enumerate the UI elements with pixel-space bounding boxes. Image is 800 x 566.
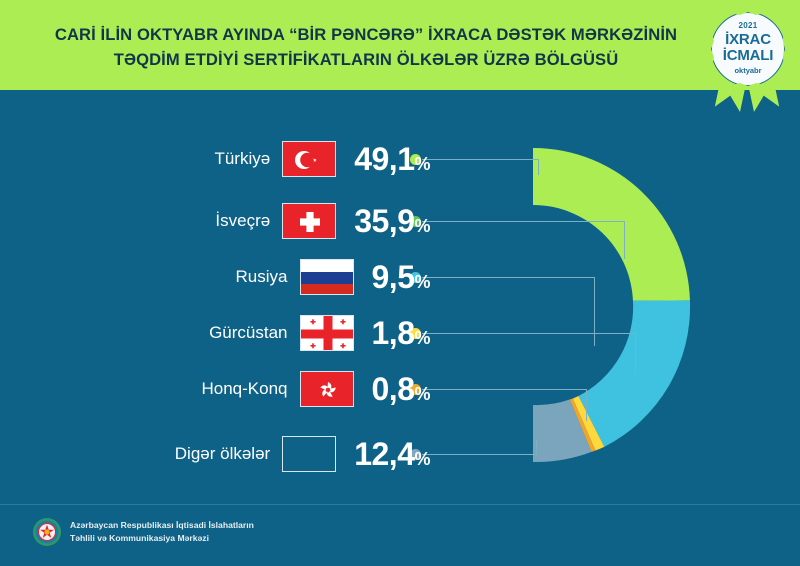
connector-drop-isvecre bbox=[624, 221, 625, 259]
footer-organization-name: Azərbaycan Respublikası İqtisadi İslahat… bbox=[70, 519, 254, 544]
connector-line-diger bbox=[422, 454, 537, 455]
flag-russia-icon bbox=[300, 259, 354, 295]
flag-hongkong-icon bbox=[300, 371, 354, 407]
semi-donut-chart bbox=[490, 128, 800, 488]
connector-line-rusiya bbox=[422, 277, 595, 278]
data-row-diger-olkeler[interactable]: Digər ölkələr 12,4% bbox=[90, 437, 430, 471]
flag-switzerland-icon bbox=[282, 203, 336, 239]
connector-line-turkiye bbox=[422, 159, 539, 160]
row-label-gurcustan: Gürcüstan bbox=[209, 323, 287, 343]
page-title: CARİ İLİN OKTYABR AYINDA “BİR PƏNCƏRƏ” İ… bbox=[36, 22, 696, 72]
row-label-rusiya: Rusiya bbox=[236, 267, 288, 287]
data-row-turkiye[interactable]: Türkiyə 49,1% bbox=[90, 142, 430, 176]
flag-turkey-icon bbox=[282, 141, 336, 177]
footer-line-2: Təhlili və Kommunikasiya Mərkəzi bbox=[70, 532, 254, 545]
row-value-gurcustan: 1,8% bbox=[372, 315, 431, 352]
connector-drop-gurcustan bbox=[635, 333, 636, 375]
row-value-isvecre: 35,9% bbox=[354, 203, 430, 240]
badge-month: oktyabr bbox=[712, 66, 784, 75]
row-value-rusiya: 9,5% bbox=[372, 259, 431, 296]
infographic-page: CARİ İLİN OKTYABR AYINDA “BİR PƏNCƏRƏ” İ… bbox=[0, 0, 800, 566]
connector-drop-rusiya bbox=[594, 277, 595, 346]
row-value-honqkonq: 0,8% bbox=[372, 371, 431, 408]
row-label-turkiye: Türkiyə bbox=[214, 149, 270, 169]
footer-line-1: Azərbaycan Respublikası İqtisadi İslahat… bbox=[70, 519, 254, 532]
page-title-line-2: TƏQDİM ETDİYİ SERTİFİKATLARIN ÖLKƏLƏR ÜZ… bbox=[36, 47, 696, 72]
badge-seal: 2021 İXRAC İCMALI oktyabr bbox=[711, 12, 785, 86]
data-row-isvecre[interactable]: İsveçrə 35,9% bbox=[90, 204, 430, 238]
footer-bar: Azərbaycan Respublikası İqtisadi İslahat… bbox=[0, 504, 800, 566]
data-row-honqkonq[interactable]: Honq-Konq 0,8% bbox=[90, 372, 430, 406]
data-row-rusiya[interactable]: Rusiya 9,5% bbox=[90, 260, 430, 294]
connector-drop-diger bbox=[536, 440, 537, 455]
row-value-turkiye: 49,1% bbox=[354, 141, 430, 178]
flag-other-placeholder-icon bbox=[282, 436, 336, 472]
flag-georgia-icon bbox=[300, 315, 354, 351]
badge-seal-group: 2021 İXRAC İCMALI oktyabr bbox=[700, 4, 796, 119]
connector-line-isvecre bbox=[422, 221, 625, 222]
row-label-honqkonq: Honq-Konq bbox=[201, 379, 287, 399]
connector-line-gurcustan bbox=[422, 333, 636, 334]
row-label-diger-olkeler: Digər ölkələr bbox=[175, 444, 270, 464]
connector-drop-honqkonq bbox=[586, 389, 587, 421]
badge-line-1: İXRAC bbox=[712, 32, 784, 48]
row-label-isvecre: İsveçrə bbox=[215, 211, 270, 231]
header-banner: CARİ İLİN OKTYABR AYINDA “BİR PƏNCƏRƏ” İ… bbox=[0, 0, 800, 90]
page-title-line-1: CARİ İLİN OKTYABR AYINDA “BİR PƏNCƏRƏ” İ… bbox=[36, 22, 696, 47]
badge-year: 2021 bbox=[712, 21, 784, 30]
azerbaijan-state-emblem-icon bbox=[32, 517, 62, 547]
connector-line-honqkonq bbox=[422, 389, 587, 390]
connector-drop-turkiye bbox=[538, 159, 539, 175]
data-row-gurcustan[interactable]: Gürcüstan 1,8% bbox=[90, 316, 430, 350]
row-value-diger-olkeler: 12,4% bbox=[354, 436, 430, 473]
badge-line-2: İCMALI bbox=[712, 48, 784, 64]
